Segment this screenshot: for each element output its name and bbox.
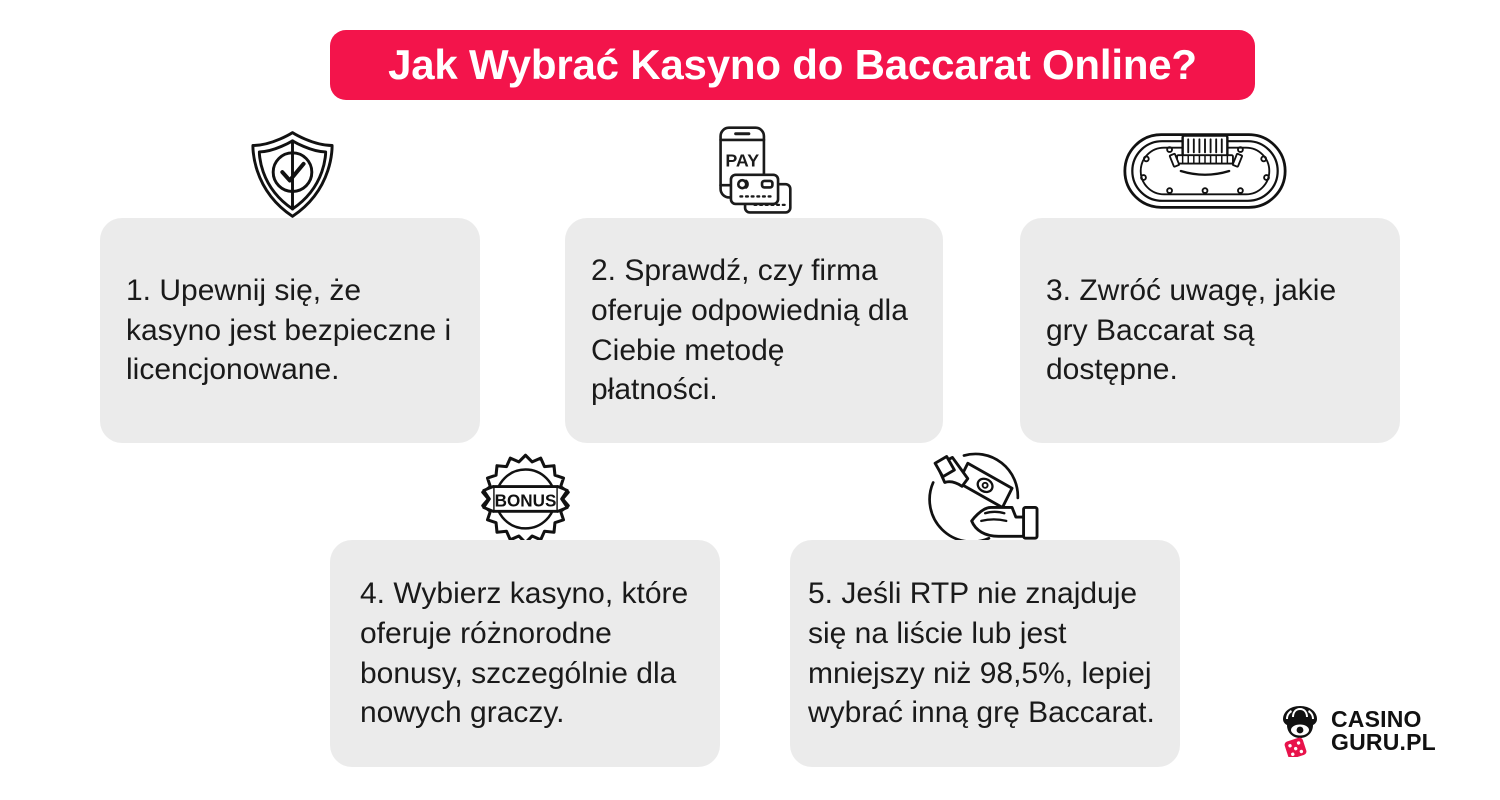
step-card-4: 4. Wybierz kasyno, które oferuje różnoro…: [330, 540, 720, 767]
shield-check-icon: [245, 128, 340, 220]
step-card-3-text: 3. Zwróć uwagę, jakie gry Baccarat są do…: [1020, 271, 1400, 391]
casino-guru-logo-text: CASINO GURU.PL: [1331, 708, 1436, 753]
bonus-badge-icon: BONUS: [478, 452, 573, 544]
casino-guru-logo-icon: [1278, 705, 1322, 757]
step-card-2-text: 2. Sprawdź, czy firma oferuje odpowiedni…: [565, 251, 943, 411]
phone-payment-icon: PAY: [707, 122, 802, 220]
step-card-4-text: 4. Wybierz kasyno, które oferuje różnoro…: [330, 574, 720, 734]
baccarat-table-icon: [1120, 130, 1290, 212]
step-card-1-text: 1. Upewnij się, że kasyno jest bezpieczn…: [100, 271, 480, 391]
casino-guru-logo: CASINO GURU.PL: [1278, 703, 1426, 759]
logo-line-2: GURU.PL: [1331, 731, 1436, 754]
bonus-label: BONUS: [495, 492, 557, 511]
step-card-5-text: 5. Jeśli RTP nie znajduje się na liście …: [790, 574, 1180, 734]
title-banner: Jak Wybrać Kasyno do Baccarat Online?: [330, 30, 1255, 100]
phone-pay-label: PAY: [725, 150, 759, 170]
page-title: Jak Wybrać Kasyno do Baccarat Online?: [388, 44, 1197, 86]
infographic-root: Jak Wybrać Kasyno do Baccarat Online? PA…: [0, 0, 1500, 800]
money-exchange-icon: [908, 444, 1043, 544]
step-card-5: 5. Jeśli RTP nie znajduje się na liście …: [790, 540, 1180, 767]
step-card-2: 2. Sprawdź, czy firma oferuje odpowiedni…: [565, 218, 943, 443]
step-card-1: 1. Upewnij się, że kasyno jest bezpieczn…: [100, 218, 480, 443]
logo-line-1: CASINO: [1331, 708, 1436, 731]
step-card-3: 3. Zwróć uwagę, jakie gry Baccarat są do…: [1020, 218, 1400, 443]
